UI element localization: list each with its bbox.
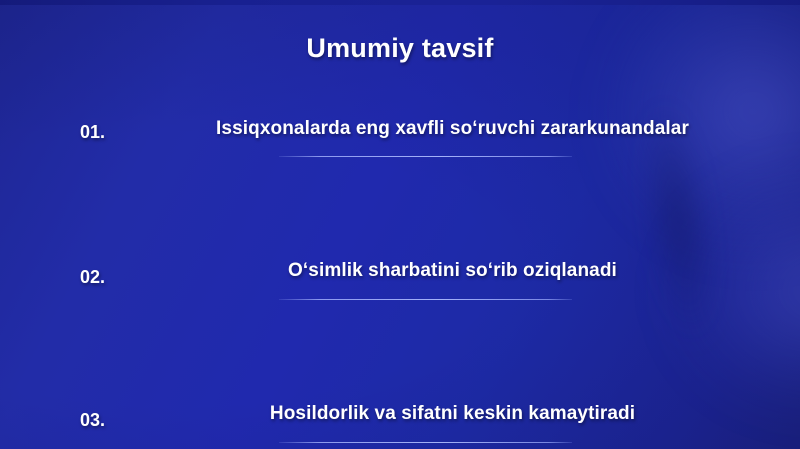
list-item-text: Issiqxonalarda eng xavfli so‘ruvchi zara… <box>145 118 760 140</box>
list-item-number: 03. <box>80 410 140 431</box>
list-item: 03. Hosildorlik va sifatni keskin kamayt… <box>0 246 800 317</box>
list-item: 04. Virus kasalliklarining asosiy tashuv… <box>0 317 800 388</box>
list-item-text: Hosildorlik va sifatni keskin kamaytirad… <box>145 403 760 425</box>
list-item-number: 01. <box>80 122 140 143</box>
list-item: 02. O‘simlik sharbatini so‘rib oziqlanad… <box>0 175 800 246</box>
presentation-slide: Umumiy tavsif 01. Issiqxonalarda eng xav… <box>0 0 800 449</box>
list-item-divider <box>279 442 572 443</box>
list-item-divider <box>279 156 572 157</box>
numbered-item-list: 01. Issiqxonalarda eng xavfli so‘ruvchi … <box>0 104 800 388</box>
slide-content: Umumiy tavsif 01. Issiqxonalarda eng xav… <box>0 0 800 449</box>
page-title: Umumiy tavsif <box>0 33 800 64</box>
list-item: 01. Issiqxonalarda eng xavfli so‘ruvchi … <box>0 104 800 175</box>
